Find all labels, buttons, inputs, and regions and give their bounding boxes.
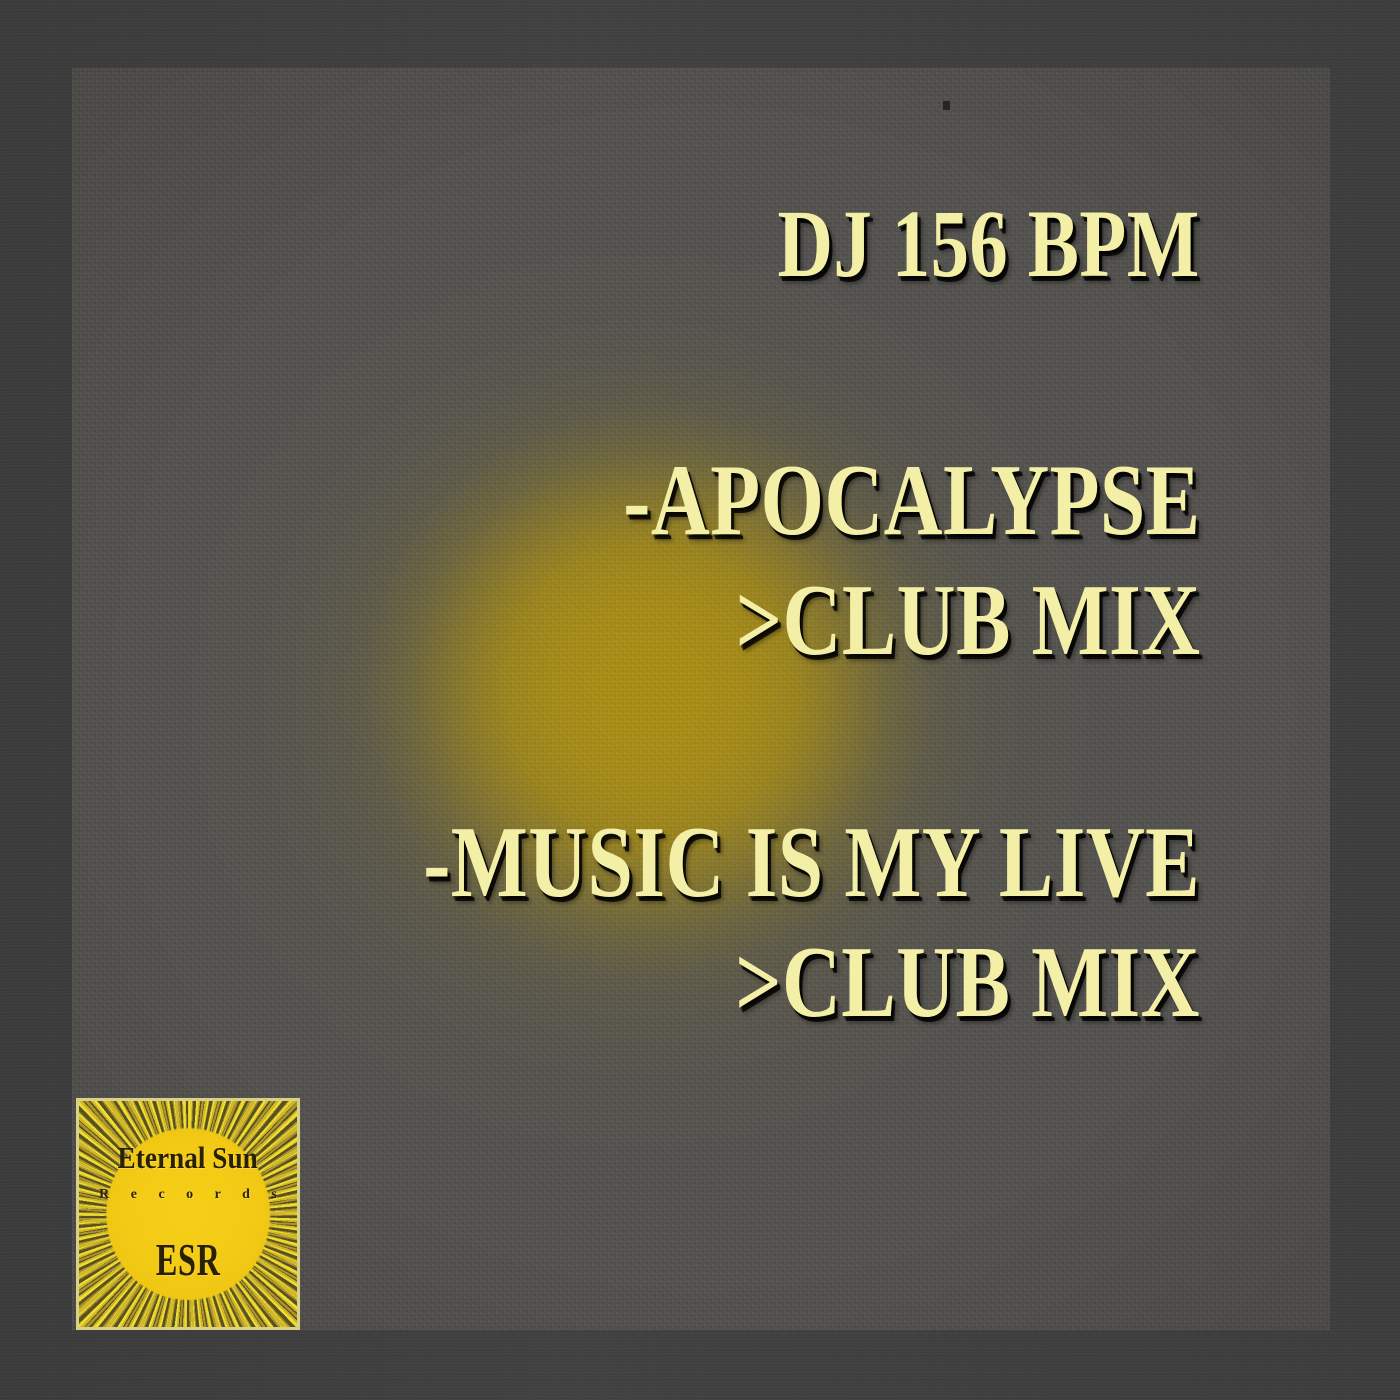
record-label-name: Eternal Sun	[118, 1142, 258, 1173]
record-label-descriptor: R e c o r d s	[99, 1187, 286, 1203]
cover-blemish-speck	[943, 101, 950, 110]
track-2-mix: >CLUB MIX	[423, 932, 1200, 1034]
artist-name-text: DJ 156 BPM	[778, 196, 1200, 292]
track-1-mix: >CLUB MIX	[623, 570, 1200, 672]
record-label-text: Eternal Sun R e c o r d s ESR	[79, 1101, 297, 1327]
track-listing-1: -APOCALYPSE >CLUB MIX	[479, 450, 1201, 672]
album-cover: DJ 156 BPM -APOCALYPSE >CLUB MIX -MUSIC …	[0, 0, 1400, 1400]
record-label-initials: ESR	[156, 1233, 221, 1286]
record-label-badge: Eternal Sun R e c o r d s ESR	[76, 1098, 300, 1330]
track-2-title: -MUSIC IS MY LIVE	[423, 812, 1200, 914]
track-listing-2: -MUSIC IS MY LIVE >CLUB MIX	[229, 812, 1200, 1034]
track-1-title: -APOCALYPSE	[623, 450, 1200, 552]
artist-name: DJ 156 BPM	[672, 196, 1200, 292]
